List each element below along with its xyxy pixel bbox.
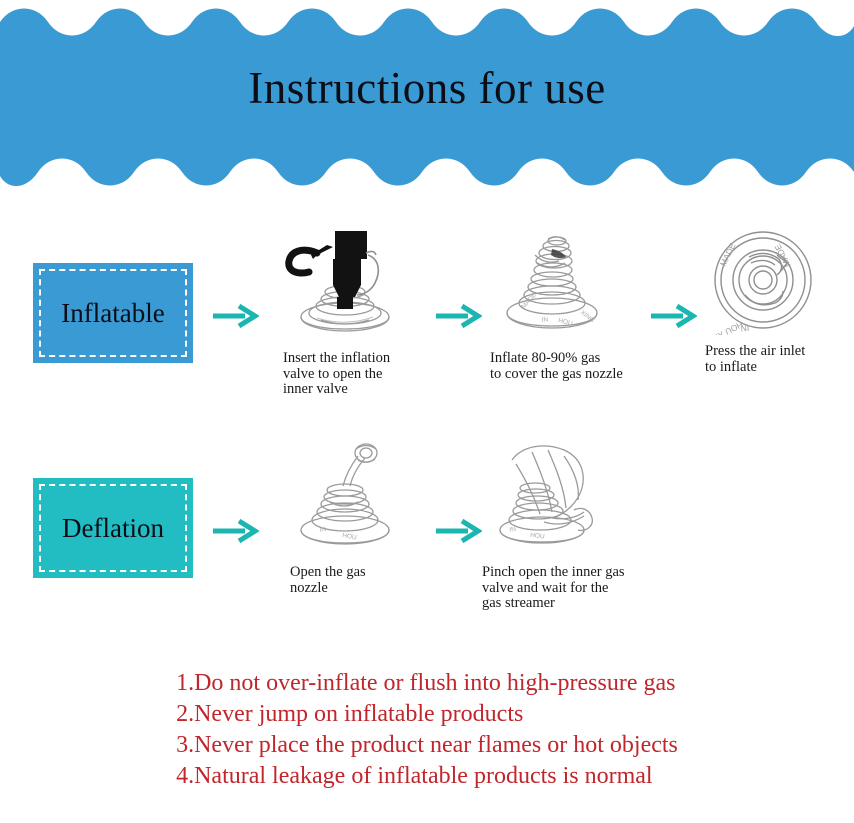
step-deflation-1: IN HOU Open the gas nozzle bbox=[290, 440, 420, 596]
step-deflation-2: IN HOU Pinch open the inner gas valve an… bbox=[482, 440, 632, 612]
arrow-right-icon bbox=[434, 517, 482, 550]
arrow-right-icon bbox=[649, 302, 697, 335]
inflation-section: Inflatable bbox=[0, 225, 854, 405]
svg-text:MADE: MADE bbox=[718, 241, 738, 268]
warning-line: 2.Never jump on inflatable products bbox=[176, 699, 678, 730]
label-deflation: Deflation bbox=[33, 478, 193, 578]
deflation-section: Deflation bbox=[0, 440, 854, 620]
warning-line: 4.Natural leakage of inflatable products… bbox=[176, 761, 678, 792]
step-inflation-1: Insert the inflation valve to open the i… bbox=[283, 225, 413, 398]
open-gas-nozzle-icon: IN HOU bbox=[290, 440, 420, 557]
step-deflation-2-caption: Pinch open the inner gas valve and wait … bbox=[482, 565, 632, 612]
label-inflatable: Inflatable bbox=[33, 263, 193, 363]
valve-top-view-icon: MADE MADE IN HOU XING bbox=[705, 225, 833, 340]
warning-line: 1.Do not over-inflate or flush into high… bbox=[176, 668, 678, 699]
svg-text:IN: IN bbox=[541, 316, 549, 324]
step-inflation-3: MADE MADE IN HOU XING Press the air inle… bbox=[705, 225, 833, 375]
svg-text:MADE: MADE bbox=[520, 291, 538, 310]
pump-nozzle-on-valve-icon bbox=[283, 225, 413, 345]
inflated-valve-icon: MADE IN HOU XING bbox=[490, 225, 630, 345]
header-banner: Instructions for use bbox=[0, 0, 854, 200]
svg-text:HOU: HOU bbox=[342, 532, 358, 541]
label-deflation-text: Deflation bbox=[62, 513, 164, 544]
arrow-right-icon bbox=[211, 517, 259, 550]
step-inflation-3-caption: Press the air inlet to inflate bbox=[705, 344, 833, 375]
arrow-right-icon bbox=[211, 302, 259, 335]
step-inflation-1-caption: Insert the inflation valve to open the i… bbox=[283, 351, 413, 398]
step-deflation-1-caption: Open the gas nozzle bbox=[290, 565, 420, 596]
warning-line: 3.Never place the product near flames or… bbox=[176, 730, 678, 761]
step-inflation-2-caption: Inflate 80-90% gas to cover the gas nozz… bbox=[490, 351, 630, 382]
page-title: Instructions for use bbox=[0, 60, 854, 116]
label-inflatable-text: Inflatable bbox=[61, 298, 164, 329]
svg-text:IN: IN bbox=[319, 526, 327, 534]
svg-text:MADE: MADE bbox=[772, 242, 793, 269]
svg-text:HOU: HOU bbox=[530, 532, 545, 541]
svg-text:HOU XING: HOU XING bbox=[705, 319, 745, 335]
step-inflation-2: MADE IN HOU XING Inflate 80-90% gas to c… bbox=[490, 225, 630, 382]
arrow-right-icon bbox=[434, 302, 482, 335]
hand-pinch-valve-icon: IN HOU bbox=[482, 440, 632, 557]
warnings-list: 1.Do not over-inflate or flush into high… bbox=[0, 668, 854, 792]
